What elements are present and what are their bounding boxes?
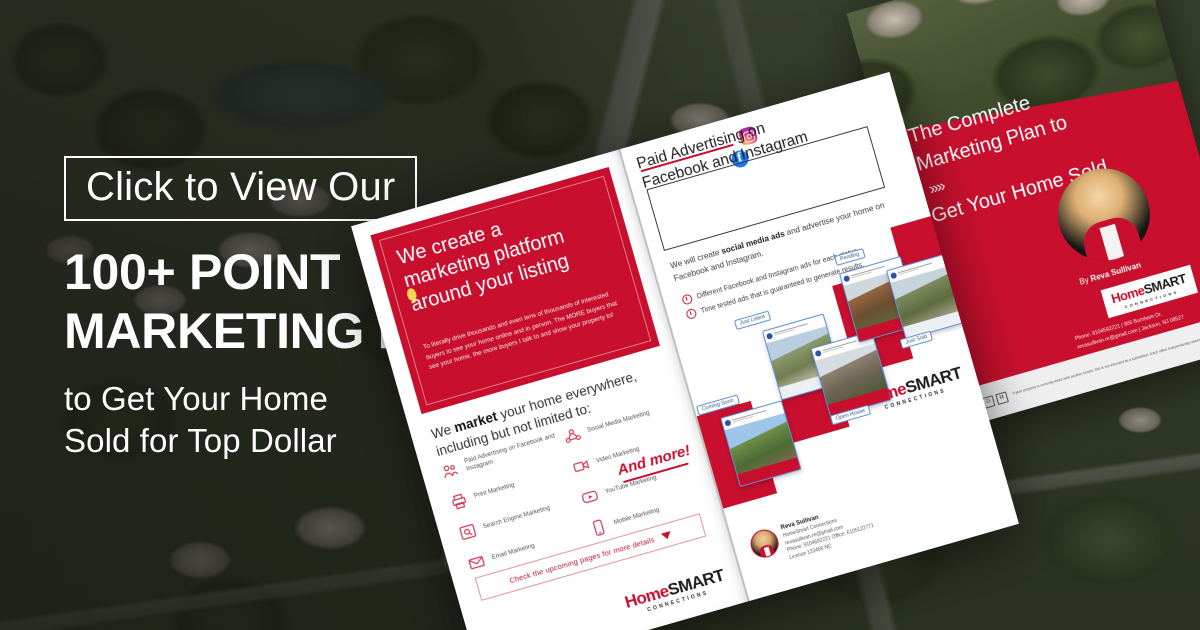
mls-icon: M [995, 391, 1009, 405]
avatar [815, 350, 822, 357]
email-icon [464, 550, 489, 575]
banner-root: Click to View Our 100+ POINT MARKETING P… [0, 0, 1200, 630]
avatar [843, 275, 850, 282]
avatar [766, 332, 773, 339]
facebook-instagram-ads-icon [438, 458, 463, 483]
list-item-label: Search Engine Marketing [482, 505, 551, 532]
print-icon [447, 489, 472, 514]
click-to-view-cta[interactable]: Click to View Our [64, 156, 417, 221]
youtube-icon [578, 485, 603, 510]
avatar [724, 419, 731, 426]
triangle-down-icon [661, 530, 673, 539]
social-media-icon [560, 423, 585, 448]
agent-avatar [747, 526, 782, 561]
avatar [890, 272, 897, 279]
card-tag: Just Listed [734, 311, 771, 330]
mobile-icon [586, 515, 611, 540]
list-item-label: Print Marketing [473, 482, 515, 501]
video-icon [569, 454, 594, 479]
cta-label: Click to View Our [86, 167, 395, 207]
list-item-label: Email Marketing [491, 542, 536, 562]
search-engine-icon [455, 520, 480, 545]
list-item-label: YouTube Marketing [604, 474, 657, 496]
left-page-homesmart-logo: HomeSMART CONNECTIONS [623, 566, 728, 618]
list-item-label: Mobile Marketing [613, 507, 660, 527]
